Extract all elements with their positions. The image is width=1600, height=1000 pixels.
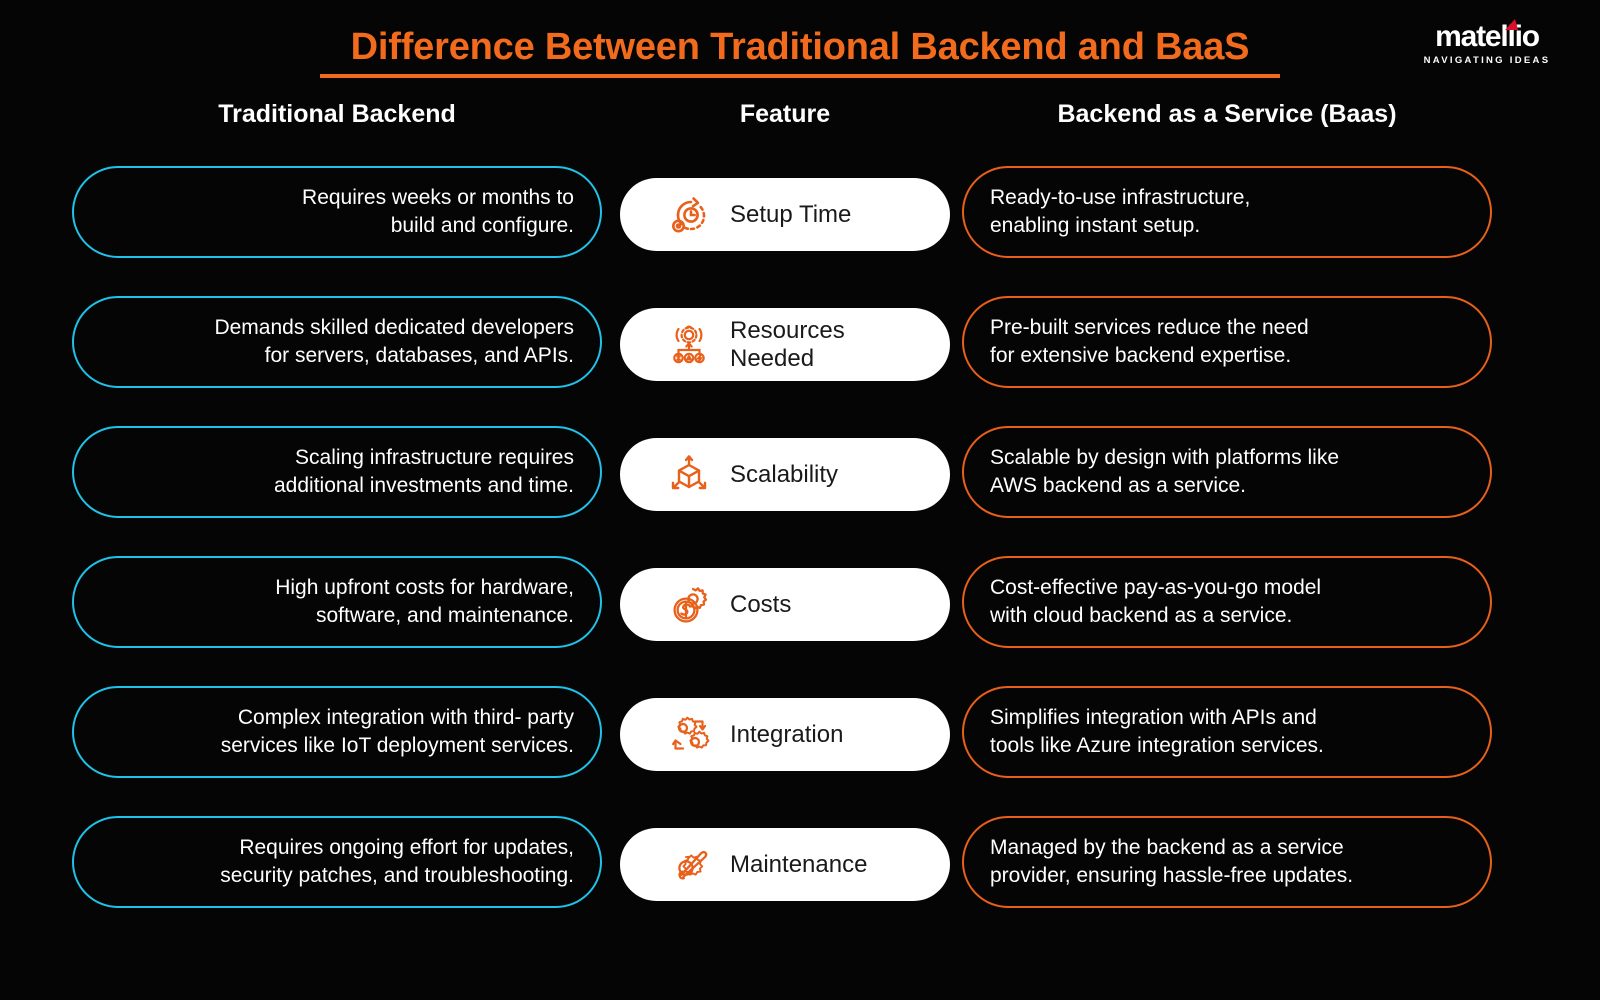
baas-pill: Ready-to-use infrastructure, enabling in… bbox=[962, 166, 1492, 258]
baas-text: Scalable by design with platforms like A… bbox=[990, 444, 1339, 499]
traditional-text: Requires ongoing effort for updates, sec… bbox=[220, 834, 574, 889]
title-underline bbox=[320, 74, 1280, 78]
comparison-row: Requires weeks or months to build and co… bbox=[0, 160, 1600, 290]
traditional-text: Demands skilled dedicated developers for… bbox=[214, 314, 574, 369]
page-title: Difference Between Traditional Backend a… bbox=[0, 26, 1600, 69]
traditional-pill: Requires ongoing effort for updates, sec… bbox=[72, 816, 602, 908]
baas-pill: Cost-effective pay-as-you-go model with … bbox=[962, 556, 1492, 648]
feature-label: Resources Needed bbox=[730, 317, 845, 372]
traditional-text: High upfront costs for hardware, softwar… bbox=[275, 574, 574, 629]
feature-label: Costs bbox=[730, 591, 791, 618]
traditional-pill: Scaling infrastructure requires addition… bbox=[72, 426, 602, 518]
baas-text: Pre-built services reduce the need for e… bbox=[990, 314, 1309, 369]
logo-wordmark: matellio bbox=[1435, 22, 1539, 52]
logo-tagline: NAVIGATING IDEAS bbox=[1402, 55, 1572, 66]
feature-label: Setup Time bbox=[730, 201, 851, 228]
comparison-row: High upfront costs for hardware, softwar… bbox=[0, 550, 1600, 680]
baas-text: Managed by the backend as a service prov… bbox=[990, 834, 1353, 889]
feature-pill: Integration bbox=[620, 698, 950, 771]
comparison-row: Complex integration with third- party se… bbox=[0, 680, 1600, 810]
traditional-text: Scaling infrastructure requires addition… bbox=[274, 444, 574, 499]
dollar-gear-icon bbox=[664, 580, 714, 630]
column-headers: Traditional Backend Feature Backend as a… bbox=[0, 100, 1600, 148]
feature-pill: Costs bbox=[620, 568, 950, 641]
logo-accent-icon bbox=[1505, 19, 1518, 30]
baas-pill: Pre-built services reduce the need for e… bbox=[962, 296, 1492, 388]
traditional-pill: Requires weeks or months to build and co… bbox=[72, 166, 602, 258]
gears-sync-icon bbox=[664, 710, 714, 760]
logo-name-text: matellio bbox=[1435, 20, 1539, 53]
column-header-baas: Backend as a Service (Baas) bbox=[962, 100, 1492, 129]
traditional-pill: Complex integration with third- party se… bbox=[72, 686, 602, 778]
baas-pill: Scalable by design with platforms like A… bbox=[962, 426, 1492, 518]
comparison-row: Requires ongoing effort for updates, sec… bbox=[0, 810, 1600, 940]
gear-wrench-icon bbox=[664, 840, 714, 890]
feature-label: Maintenance bbox=[730, 851, 867, 878]
page-header: Difference Between Traditional Backend a… bbox=[0, 0, 1600, 100]
feature-pill: Resources Needed bbox=[620, 308, 950, 381]
feature-pill: Maintenance bbox=[620, 828, 950, 901]
comparison-row: Scaling infrastructure requires addition… bbox=[0, 420, 1600, 550]
brand-logo: matellio NAVIGATING IDEAS bbox=[1402, 22, 1572, 66]
column-header-feature: Feature bbox=[620, 100, 950, 129]
gear-resources-icon bbox=[664, 320, 714, 370]
feature-label: Scalability bbox=[730, 461, 838, 488]
traditional-text: Requires weeks or months to build and co… bbox=[302, 184, 574, 239]
traditional-text: Complex integration with third- party se… bbox=[221, 704, 574, 759]
traditional-pill: Demands skilled dedicated developers for… bbox=[72, 296, 602, 388]
traditional-pill: High upfront costs for hardware, softwar… bbox=[72, 556, 602, 648]
feature-label: Integration bbox=[730, 721, 843, 748]
baas-pill: Managed by the backend as a service prov… bbox=[962, 816, 1492, 908]
baas-pill: Simplifies integration with APIs and too… bbox=[962, 686, 1492, 778]
comparison-row: Demands skilled dedicated developers for… bbox=[0, 290, 1600, 420]
baas-text: Ready-to-use infrastructure, enabling in… bbox=[990, 184, 1250, 239]
baas-text: Simplifies integration with APIs and too… bbox=[990, 704, 1324, 759]
comparison-rows: Requires weeks or months to build and co… bbox=[0, 160, 1600, 940]
cube-expand-icon bbox=[664, 450, 714, 500]
feature-pill: Scalability bbox=[620, 438, 950, 511]
column-header-traditional: Traditional Backend bbox=[72, 100, 602, 129]
baas-text: Cost-effective pay-as-you-go model with … bbox=[990, 574, 1321, 629]
feature-pill: Setup Time bbox=[620, 178, 950, 251]
clock-timer-icon bbox=[664, 190, 714, 240]
